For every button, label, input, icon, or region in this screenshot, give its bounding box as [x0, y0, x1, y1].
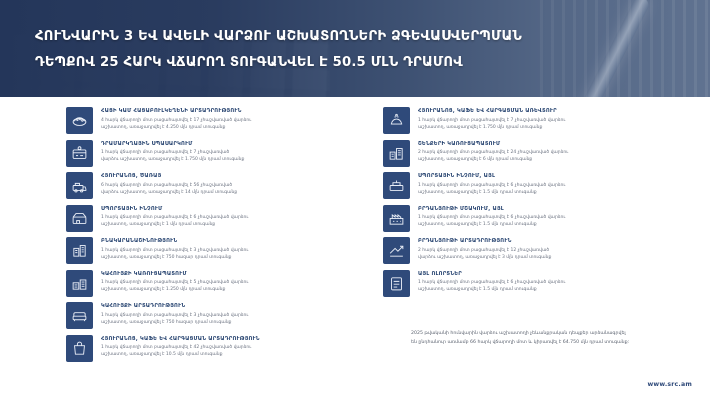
workshop-icon: [66, 205, 93, 232]
sport-icon: [383, 172, 410, 199]
header-title-line-1: ՀՈՒՆՎԱՐԻՆ 3 ԵՎ ԱՎԵԼԻ ՎԱՐՁՈՒ ԱՇԽԱՏՈՂՆԵՐԻ …: [35, 24, 670, 50]
list-item-title: ՍՊՈՐՏԱՅԻՆ ԻՆՉՈՒՄ: [101, 206, 248, 213]
list-item-text: ՀԱՑԻ ԿԱՄ ՀԱՑԱԲՈՒԼԿԵՂԵՆԻ ԱՐՏԱԴՐՈՒԹՅՈՒՆ 4 …: [101, 107, 251, 131]
list-item: ԴՐԱՄԱՐԿՂԱՅԻՆ ՍՊԱՍԱՐԿՈՒՄ 1 հարկ վճարողի մ…: [66, 140, 345, 167]
list-item-desc-line-1: 2 հարկ վճարողի մոտ բացահայտվել է 24 չհաշ…: [418, 149, 568, 156]
list-item-text: ՇԵՆՔԵՐԻ ԿԱՌՈՒՑԱՊԱՏՈՒՄ 2 հարկ վճարողի մոտ…: [418, 140, 568, 164]
list-item-desc-line-2: աշխատող, առաջադրվել է 750 հազար դրամ տու…: [101, 254, 248, 261]
list-item-desc-line-2: վարձու աշխատող, առաջադրվել է 14 մլն դրամ…: [101, 189, 237, 196]
list-item: ՀՅՈՒՐԱՆՈՑ, ԿԱՖԵ ԵՎ ՀԱՐԳԱՑՄԱՆ ԱՌԵՎՏՈՒՐ 1 …: [383, 107, 696, 134]
retail-bag-icon: [66, 335, 93, 362]
list-item-desc-line-1: 1 հարկ վճարողի մոտ բացահայտվել է 42 չհաշ…: [101, 344, 260, 351]
summary-note-line-2: են ընդհանուր առմամբ 66 հարկ վճարողի մոտ …: [411, 339, 699, 348]
list-item-desc-line-1: 1 հարկ վճարողի մոտ բացահայտվել է 5 չհաշվ…: [101, 279, 248, 286]
list-item-desc-line-1: 1 հարկ վճարողի մոտ բացահայտվել է 6 չհաշվ…: [418, 182, 565, 189]
list-item: ՀԱՑԻ ԿԱՄ ՀԱՑԱԲՈՒԼԿԵՂԵՆԻ ԱՐՏԱԴՐՈՒԹՅՈՒՆ 4 …: [66, 107, 345, 134]
list-item: ՀՅՈՒՐԱՆՈՑ, ԾԱՌԱՅ 6 հարկ վճարողի մոտ բացա…: [66, 172, 345, 199]
list-item-title: ՇԵՆՔԵՐԻ ԿԱՌՈՒՑԱՊԱՏՈՒՄ: [418, 141, 568, 148]
list-item: ԿԱՀՈՒՅՔԻ ԱՐՏԱԴՐՈՒԹՅՈՒՆ 1 հարկ վճարողի մո…: [66, 302, 345, 329]
other-sectors-icon: [383, 270, 410, 297]
list-item-title: ՀՅՈՒՐԱՆՈՑ, ԿԱՖԵ ԵՎ ՀԱՐԳԱՑՄԱՆ ԱՌԵՎՏՈՒՐ: [418, 108, 565, 115]
list-item-text: ԴՐԱՄԱՐԿՂԱՅԻՆ ՍՊԱՍԱՐԿՈՒՄ 1 հարկ վճարողի մ…: [101, 140, 244, 164]
list-item: ԲՐԴԱՆՅՈՒԹԻ ՄՇԱԿՈՒՄ, ԱՅԼ 1 հարկ վճարողի մ…: [383, 205, 696, 232]
list-item-text: ԿԱՀՈՒՅՔԻ ԱՐՏԱԴՐՈՒԹՅՈՒՆ 1 հարկ վճարողի մո…: [101, 302, 248, 326]
list-item: ՀՅՈՒՐԱՆՈՑ, ԿԱՖԵ ԵՎ ՀԱՐԳԱՑՄԱՆ ԱՐՏԱԴՐՈՒԹՅՈ…: [66, 335, 345, 362]
infographic-page: ՀՈՒՆՎԱՐԻՆ 3 ԵՎ ԱՎԵԼԻ ՎԱՐՁՈՒ ԱՇԽԱՏՈՂՆԵՐԻ …: [0, 0, 710, 400]
hospitality-icon: [383, 107, 410, 134]
list-item-title: ԲՐԴԱՆՅՈՒԹԻ ԱՐՏԱԴՐՈՒԹՅՈՒՆ: [418, 238, 551, 245]
list-item-desc-line-1: 1 հարկ վճարողի մոտ բացահայտվել է 6 չհաշվ…: [418, 279, 565, 286]
construction-icon: [66, 237, 93, 264]
list-item-desc-line-1: 1 հարկ վճարողի մոտ բացահայտվել է 7 չհաշվ…: [101, 149, 244, 156]
list-item-desc-line-1: 2 հարկ վճարողի մոտ բացահայտվել է 12 չհաշ…: [418, 247, 551, 254]
list-item-desc-line-1: 4 հարկ վճարողի մոտ բացահայտվել է 17 չհաշ…: [101, 117, 251, 124]
list-item-text: ԲՆԱԿԱՐԱՆԱՇԻՆՈՒԹՅՈՒՆ 1 հարկ վճարողի մոտ բ…: [101, 237, 248, 261]
list-item-title: ՀԱՑԻ ԿԱՄ ՀԱՑԱԲՈՒԼԿԵՂԵՆԻ ԱՐՏԱԴՐՈՒԹՅՈՒՆ: [101, 108, 251, 115]
furniture-icon: [66, 302, 93, 329]
list-item: ԱՅԼ ՈԼՈՐՏՆԵՐ 1 հարկ վճարողի մոտ բացահայտ…: [383, 270, 696, 297]
list-item: ՍՊՈՐՏԱՅԻՆ ԻՆՉՈՒՄ 1 հարկ վճարողի մոտ բացա…: [66, 205, 345, 232]
website-url[interactable]: www.src.am: [648, 381, 692, 388]
list-item-desc-line-1: 1 հարկ վճարողի մոտ բացահայտվել է 6 չհաշվ…: [418, 214, 565, 221]
summary-note: 2025 թվականի հունվարին վարձու աշխատողի չ…: [411, 330, 699, 347]
list-item: ՇԵՆՔԵՐԻ ԿԱՌՈՒՑԱՊԱՏՈՒՄ 2 հարկ վճարողի մոտ…: [383, 140, 696, 167]
list-item-desc-line-1: 1 հարկ վճարողի մոտ բացահայտվել է 6 չհաշվ…: [101, 214, 248, 221]
header-title-line-2: ԴԵՊՔՈՎ 25 ՀԱՐԿ ՎՃԱՐՈՂ ՏՈՒԳԱՆՎԵԼ Է 50.5 Մ…: [35, 50, 670, 76]
list-item-desc-line-2: վարձու աշխատող, առաջադրվել է 3 մլն դրամ …: [418, 254, 551, 261]
list-item-title: ՀՅՈՒՐԱՆՈՑ, ԾԱՌԱՅ: [101, 173, 237, 180]
list-item-title: ԿԱՀՈՒՅՔԻ ԱՐՏԱԴՐՈՒԹՅՈՒՆ: [101, 303, 248, 310]
bakery-icon: [66, 107, 93, 134]
furniture-build-icon: [66, 270, 93, 297]
wool-process-icon: [383, 205, 410, 232]
cash-register-icon: [66, 140, 93, 167]
list-item-text: ՀՅՈՒՐԱՆՈՑ, ԿԱՖԵ ԵՎ ՀԱՐԳԱՑՄԱՆ ԱՌԵՎՏՈՒՐ 1 …: [418, 107, 565, 131]
catering-icon: [66, 172, 93, 199]
list-item-desc-line-2: աշխատող, առաջադրվել է 1.250 մլն դրամ տու…: [101, 286, 248, 293]
list-item-title: ՀՅՈՒՐԱՆՈՑ, ԿԱՖԵ ԵՎ ՀԱՐԳԱՑՄԱՆ ԱՐՏԱԴՐՈՒԹՅՈ…: [101, 336, 260, 343]
header-banner: ՀՈՒՆՎԱՐԻՆ 3 ԵՎ ԱՎԵԼԻ ՎԱՐՁՈՒ ԱՇԽԱՏՈՂՆԵՐԻ …: [0, 0, 710, 97]
list-item-desc-line-2: աշխատող, առաջադրվել է 1.5 մլն դրամ տուգա…: [418, 286, 565, 293]
list-item: ԿԱՀՈՒՅՔԻ ԿԱՌՈՒՑԱՊԱՏՈՒՄ 1 հարկ վճարողի մո…: [66, 270, 345, 297]
list-item-desc-line-1: 1 հարկ վճարողի մոտ բացահայտվել է 3 չհաշվ…: [101, 247, 248, 254]
list-item-text: ՀՅՈՒՐԱՆՈՑ, ԿԱՖԵ ԵՎ ՀԱՐԳԱՑՄԱՆ ԱՐՏԱԴՐՈՒԹՅՈ…: [101, 335, 260, 359]
list-item-desc-line-2: աշխատող, առաջադրվել է 10.5 մլն դրամ տուգ…: [101, 351, 260, 358]
list-item-title: ՍՊՈՐՏԱՅԻՆ ԻՆՉՈՒՄ, ԱՅԼ: [418, 173, 565, 180]
right-column: ՀՅՈՒՐԱՆՈՑ, ԿԱՖԵ ԵՎ ՀԱՐԳԱՑՄԱՆ ԱՌԵՎՏՈՒՐ 1 …: [355, 107, 710, 367]
list-item-desc-line-2: աշխատող, առաջադրվել է 1.750 մլն դրամ տու…: [418, 124, 565, 131]
list-item-title: ԴՐԱՄԱՐԿՂԱՅԻՆ ՍՊԱՍԱՐԿՈՒՄ: [101, 141, 244, 148]
list-item-desc-line-2: վարձու աշխատող, առաջադրվել է 1.750 մլն դ…: [101, 156, 244, 163]
list-item-desc-line-2: աշխատող, առաջադրվել է 1 մլն դրամ տուգանք: [101, 221, 248, 228]
list-item-title: ԱՅԼ ՈԼՈՐՏՆԵՐ: [418, 271, 565, 278]
left-column: ՀԱՑԻ ԿԱՄ ՀԱՑԱԲՈՒԼԿԵՂԵՆԻ ԱՐՏԱԴՐՈՒԹՅՈՒՆ 4 …: [0, 107, 355, 367]
list-item: ՍՊՈՐՏԱՅԻՆ ԻՆՉՈՒՄ, ԱՅԼ 1 հարկ վճարողի մոտ…: [383, 172, 696, 199]
list-item-desc-line-2: աշխատող, առաջադրվել է 4.250 մլն դրամ տու…: [101, 124, 251, 131]
wool-production-icon: [383, 237, 410, 264]
header-title: ՀՈՒՆՎԱՐԻՆ 3 ԵՎ ԱՎԵԼԻ ՎԱՐՁՈՒ ԱՇԽԱՏՈՂՆԵՐԻ …: [35, 24, 670, 75]
list-item-text: ԱՅԼ ՈԼՈՐՏՆԵՐ 1 հարկ վճարողի մոտ բացահայտ…: [418, 270, 565, 294]
list-item-text: ԲՐԴԱՆՅՈՒԹԻ ՄՇԱԿՈՒՄ, ԱՅԼ 1 հարկ վճարողի մ…: [418, 205, 565, 229]
list-item-desc-line-2: աշխատող, առաջադրվել է 1.5 մլն դրամ տուգա…: [418, 189, 565, 196]
list-item-title: ԲՆԱԿԱՐԱՆԱՇԻՆՈՒԹՅՈՒՆ: [101, 238, 248, 245]
two-column-layout: ՀԱՑԻ ԿԱՄ ՀԱՑԱԲՈՒԼԿԵՂԵՆԻ ԱՐՏԱԴՐՈՒԹՅՈՒՆ 4 …: [0, 107, 710, 367]
list-item-title: ԲՐԴԱՆՅՈՒԹԻ ՄՇԱԿՈՒՄ, ԱՅԼ: [418, 206, 565, 213]
summary-note-line-1: 2025 թվականի հունվարին վարձու աշխատողի չ…: [411, 330, 699, 339]
buildings-icon: [383, 140, 410, 167]
list-item: ԲՆԱԿԱՐԱՆԱՇԻՆՈՒԹՅՈՒՆ 1 հարկ վճարողի մոտ բ…: [66, 237, 345, 264]
list-item-desc-line-1: 1 հարկ վճարողի մոտ բացահայտվել է 7 չհաշվ…: [418, 117, 565, 124]
list-item-desc-line-1: 1 հարկ վճարողի մոտ բացահայտվել է 3 չհաշվ…: [101, 312, 248, 319]
list-item-desc-line-2: աշխատող, առաջադրվել է 750 հազար դրամ տու…: [101, 319, 248, 326]
list-item-desc-line-2: աշխատող, առաջադրվել է 6 մլն դրամ տուգանք: [418, 156, 568, 163]
list-item-text: ՍՊՈՐՏԱՅԻՆ ԻՆՉՈՒՄ, ԱՅԼ 1 հարկ վճարողի մոտ…: [418, 172, 565, 196]
list-item-title: ԿԱՀՈՒՅՔԻ ԿԱՌՈՒՑԱՊԱՏՈՒՄ: [101, 271, 248, 278]
list-item-text: ՀՅՈՒՐԱՆՈՑ, ԾԱՌԱՅ 6 հարկ վճարողի մոտ բացա…: [101, 172, 237, 196]
list-item-desc-line-2: աշխատող, առաջադրվել է 1.5 մլն դրամ տուգա…: [418, 221, 565, 228]
list-item-desc-line-1: 6 հարկ վճարողի մոտ բացահայտվել է 56 չհաշ…: [101, 182, 237, 189]
content-body: ՀԱՑԻ ԿԱՄ ՀԱՑԱԲՈՒԼԿԵՂԵՆԻ ԱՐՏԱԴՐՈՒԹՅՈՒՆ 4 …: [0, 97, 710, 400]
list-item-text: ՍՊՈՐՏԱՅԻՆ ԻՆՉՈՒՄ 1 հարկ վճարողի մոտ բացա…: [101, 205, 248, 229]
list-item-text: ԲՐԴԱՆՅՈՒԹԻ ԱՐՏԱԴՐՈՒԹՅՈՒՆ 2 հարկ վճարողի …: [418, 237, 551, 261]
list-item: ԲՐԴԱՆՅՈՒԹԻ ԱՐՏԱԴՐՈՒԹՅՈՒՆ 2 հարկ վճարողի …: [383, 237, 696, 264]
list-item-text: ԿԱՀՈՒՅՔԻ ԿԱՌՈՒՑԱՊԱՏՈՒՄ 1 հարկ վճարողի մո…: [101, 270, 248, 294]
